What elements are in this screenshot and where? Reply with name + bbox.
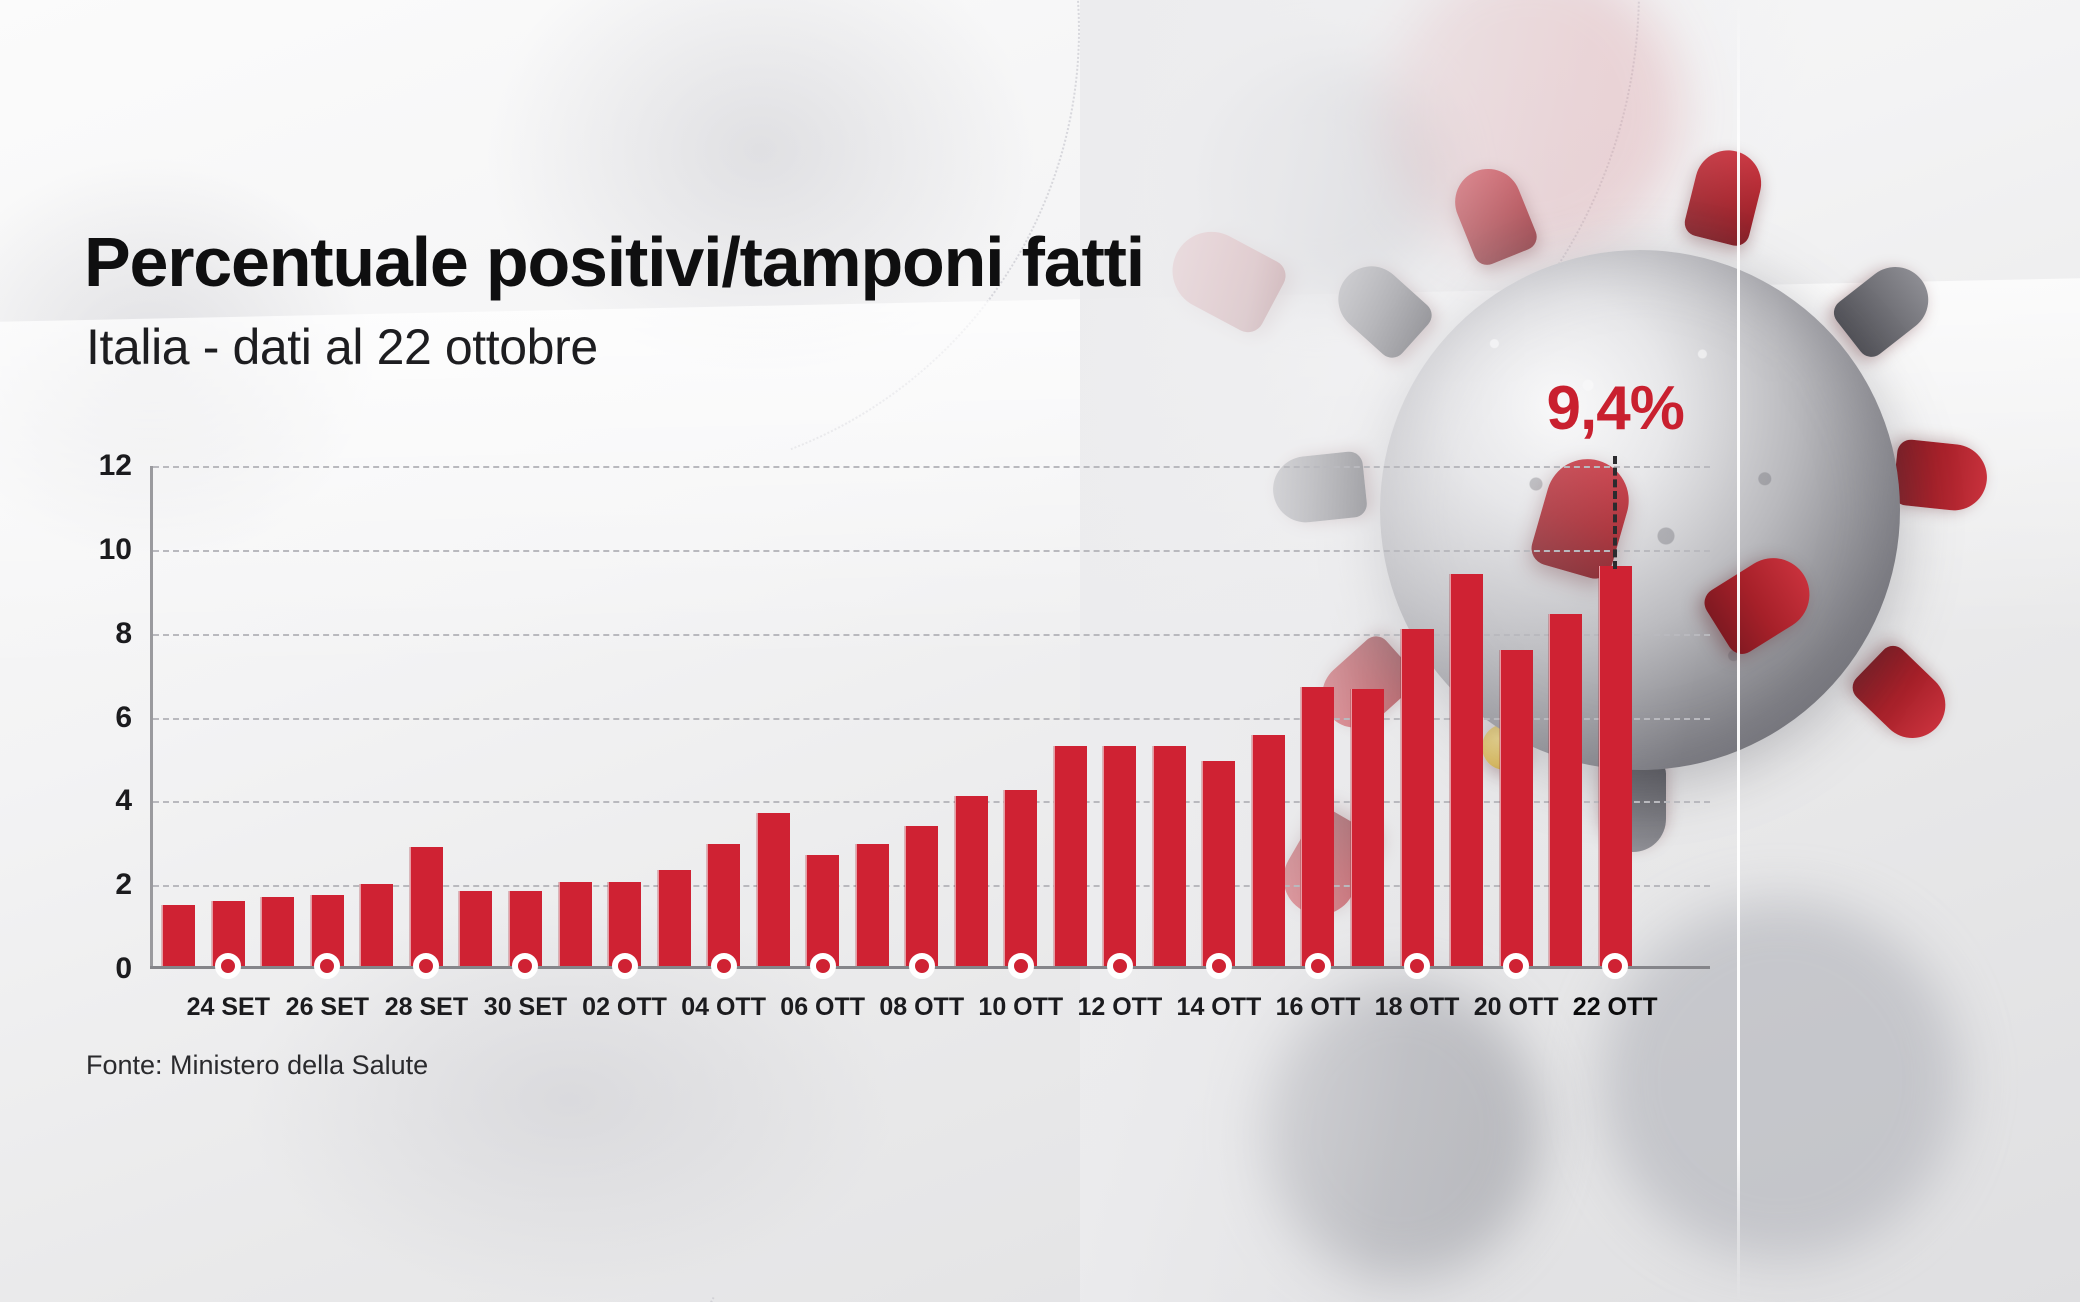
bar-slot (947, 466, 997, 966)
bar[interactable] (806, 855, 839, 966)
x-label-slot: 10 OTT (996, 969, 1046, 1015)
bar[interactable] (1202, 761, 1235, 966)
source-note: Fonte: Ministero della Salute (86, 1050, 428, 1081)
bar-slot (649, 466, 699, 966)
bar[interactable] (1500, 650, 1533, 966)
virus-spike-grey-1 (1325, 253, 1438, 364)
callout-value-label: 9,4% (1547, 373, 1684, 444)
bar-slot (748, 466, 798, 966)
bar[interactable] (1004, 790, 1037, 966)
bar-slot (303, 466, 353, 966)
virus-spike-red-2 (1682, 143, 1768, 248)
bar-slot (1392, 466, 1442, 966)
virus-bokeh-1 (1200, 60, 1440, 300)
x-label-slot: 08 OTT (897, 969, 947, 1015)
bar-slot (600, 466, 650, 966)
x-label-slot: 30 SET (501, 969, 551, 1015)
bar[interactable] (955, 796, 988, 966)
bar-slot (1293, 466, 1343, 966)
bar-slot (1046, 466, 1096, 966)
virus-spike-grey-2 (1828, 254, 1941, 363)
y-tick-label: 4 (115, 784, 132, 818)
bar[interactable] (658, 870, 691, 966)
bar-slot (451, 466, 501, 966)
bar[interactable] (1153, 746, 1186, 966)
infographic-canvas: Percentuale positivi/tamponi fatti Itali… (0, 0, 2080, 1302)
bar-series (154, 466, 1640, 966)
page-subtitle: Italia - dati al 22 ottobre (86, 318, 598, 376)
bar-slot (204, 466, 254, 966)
bar[interactable] (360, 884, 393, 966)
panel-divider-line (1737, 0, 1740, 1302)
bar-slot (1343, 466, 1393, 966)
x-label-slot: 22 OTT (1590, 969, 1640, 1015)
callout-connector-line (1613, 456, 1617, 569)
x-label-slot: 02 OTT (600, 969, 650, 1015)
virus-bokeh-4 (1260, 980, 1540, 1280)
bar-slot (1244, 466, 1294, 966)
bar-slot (699, 466, 749, 966)
x-label-slot: 12 OTT (1095, 969, 1145, 1015)
bar[interactable] (707, 844, 740, 966)
bar-slot (847, 466, 897, 966)
bar[interactable] (1599, 566, 1632, 966)
bar[interactable] (1351, 689, 1384, 966)
bar[interactable] (905, 826, 938, 966)
bar-slot (1095, 466, 1145, 966)
bar-slot (996, 466, 1046, 966)
virus-spike-red-6 (1159, 218, 1291, 338)
y-tick-label: 0 (115, 952, 132, 986)
bar[interactable] (1450, 574, 1483, 966)
x-label-slot: 28 SET (402, 969, 452, 1015)
virus-knob-gold-2 (1692, 660, 1738, 706)
bar-slot (402, 466, 452, 966)
y-tick-label: 6 (115, 701, 132, 735)
y-tick-label: 2 (115, 868, 132, 902)
bar-slot (550, 466, 600, 966)
x-label-slot: 06 OTT (798, 969, 848, 1015)
x-label-slot: 20 OTT (1491, 969, 1541, 1015)
bar-slot (1194, 466, 1244, 966)
bar[interactable] (757, 813, 790, 966)
bar-slot (1541, 466, 1591, 966)
bar-slot (1442, 466, 1492, 966)
x-label-slot: 26 SET (303, 969, 353, 1015)
y-tick-label: 8 (115, 617, 132, 651)
x-label-slot: 04 OTT (699, 969, 749, 1015)
x-axis-tick-labels: 24 SET26 SET28 SET30 SET02 OTT04 OTT06 O… (154, 969, 1640, 1015)
bar[interactable] (1301, 687, 1334, 966)
bar[interactable] (559, 882, 592, 966)
bar-chart: 024681012 24 SET26 SET28 SET30 SET02 OTT… (150, 466, 1640, 969)
bar[interactable] (162, 905, 195, 966)
bar[interactable] (261, 897, 294, 966)
bar-slot (798, 466, 848, 966)
bar-slot (1145, 466, 1195, 966)
x-label-slot: 18 OTT (1392, 969, 1442, 1015)
bar-slot (352, 466, 402, 966)
bar[interactable] (1252, 735, 1285, 966)
x-label-slot: 16 OTT (1293, 969, 1343, 1015)
virus-spike-red-3 (1892, 438, 1990, 513)
y-tick-label: 12 (99, 449, 132, 483)
bar-slot (897, 466, 947, 966)
bar-slot (501, 466, 551, 966)
virus-bokeh-3 (1600, 900, 1960, 1260)
bar[interactable] (459, 891, 492, 966)
page-title: Percentuale positivi/tamponi fatti (84, 222, 1144, 302)
bar[interactable] (1549, 614, 1582, 966)
bar[interactable] (410, 847, 443, 966)
virus-bokeh-2 (1380, 0, 1680, 260)
virus-spike-red-1 (1445, 159, 1541, 269)
bar[interactable] (1103, 746, 1136, 966)
virus-spike-red-5 (1847, 640, 1959, 751)
x-tick-label: 22 OTT (1573, 993, 1658, 1022)
virus-spike-red-8 (1699, 544, 1823, 659)
x-label-slot: 24 SET (204, 969, 254, 1015)
bar-slot (1491, 466, 1541, 966)
bar[interactable] (1401, 629, 1434, 966)
bar[interactable] (856, 844, 889, 966)
bar-slot (154, 466, 204, 966)
bar[interactable] (1054, 746, 1087, 966)
bar-slot (253, 466, 303, 966)
y-tick-label: 10 (99, 533, 132, 567)
x-label-slot: 14 OTT (1194, 969, 1244, 1015)
